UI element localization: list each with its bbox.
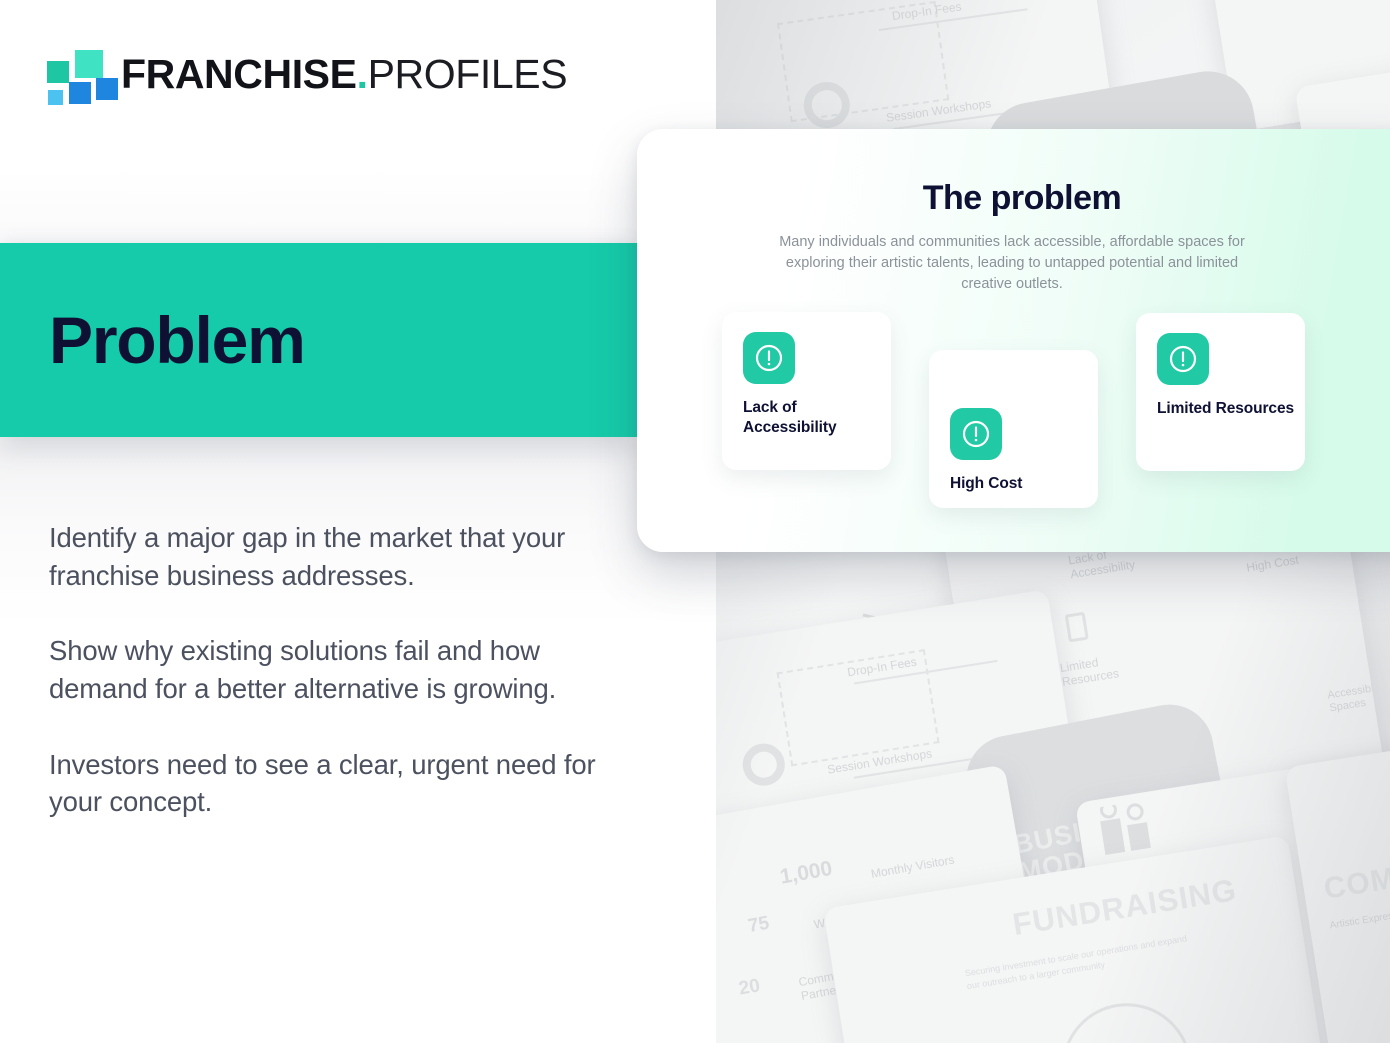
alert-circle-icon <box>950 408 1002 460</box>
watermark-accessible-label: Accessible Spaces <box>1327 680 1385 715</box>
watermark-stat-value-0: 1,000 <box>778 856 834 890</box>
logo-mark-icon <box>45 45 107 103</box>
problem-card-high-cost[interactable]: High Cost <box>929 350 1098 508</box>
problem-preview-panel: The problem Many individuals and communi… <box>637 129 1390 552</box>
page-title: Problem <box>49 307 305 373</box>
left-content-column: FRANCHISE . PROFILES Problem Identify a … <box>0 0 716 1043</box>
panel-title: The problem <box>617 179 1390 218</box>
alert-circle-icon <box>1157 333 1209 385</box>
brand-logo[interactable]: FRANCHISE . PROFILES <box>45 43 567 105</box>
problem-card-label: Limited Resources <box>1157 399 1297 419</box>
logo-word-light: PROFILES <box>368 54 568 95</box>
slide-body-copy: Identify a major gap in the market that … <box>49 519 619 821</box>
problem-card-label: Lack of Accessibility <box>743 398 883 439</box>
watermark-donut-chart <box>1052 994 1201 1043</box>
panel-header: The problem Many individuals and communi… <box>637 179 1390 295</box>
watermark-dollar-circle <box>740 741 788 789</box>
body-paragraph-2: Investors need to see a clear, urgent ne… <box>49 746 619 821</box>
logo-square-3 <box>96 78 118 100</box>
logo-square-2 <box>69 82 91 104</box>
watermark-competition-sub: Artistic Expression through <box>1329 902 1390 933</box>
body-paragraph-0: Identify a major gap in the market that … <box>49 519 619 594</box>
alert-circle-icon <box>743 332 795 384</box>
watermark-fundraising-title: FUNDRAISING <box>1010 872 1239 943</box>
logo-dot: . <box>357 54 368 95</box>
problem-card-accessibility[interactable]: Lack of Accessibility <box>722 312 891 470</box>
watermark-hourglass-icon <box>1065 612 1089 643</box>
logo-square-0 <box>47 61 69 83</box>
watermark-stat-value-2: 20 <box>737 975 762 1001</box>
watermark-competition-title: COM <box>1322 862 1390 907</box>
section-title-band: Problem <box>0 243 637 437</box>
logo-word-bold: FRANCHISE <box>121 54 357 95</box>
logo-square-1 <box>75 50 103 78</box>
watermark-stat-value-1: 75 <box>746 913 771 939</box>
logo-square-4 <box>48 90 63 105</box>
logo-wordmark: FRANCHISE . PROFILES <box>121 54 567 95</box>
watermark-problem-item-1: High Cost <box>1245 553 1299 575</box>
watermark-bars-icon <box>1096 799 1164 863</box>
problem-card-label: High Cost <box>950 474 1090 494</box>
body-paragraph-1: Show why existing solutions fail and how… <box>49 632 619 707</box>
panel-subtitle: Many individuals and communities lack ac… <box>762 232 1262 295</box>
watermark-fundraising-sub: Securing investment to scale our operati… <box>964 931 1195 993</box>
problem-card-limited-resources[interactable]: Limited Resources <box>1136 313 1305 471</box>
watermark-stat-label-0: Monthly Visitors <box>870 852 956 881</box>
slide-canvas: Drop-In Fees Session Workshops Commissio… <box>0 0 1390 1043</box>
watermark-problem-item-2: Limited Resources <box>1059 649 1143 690</box>
